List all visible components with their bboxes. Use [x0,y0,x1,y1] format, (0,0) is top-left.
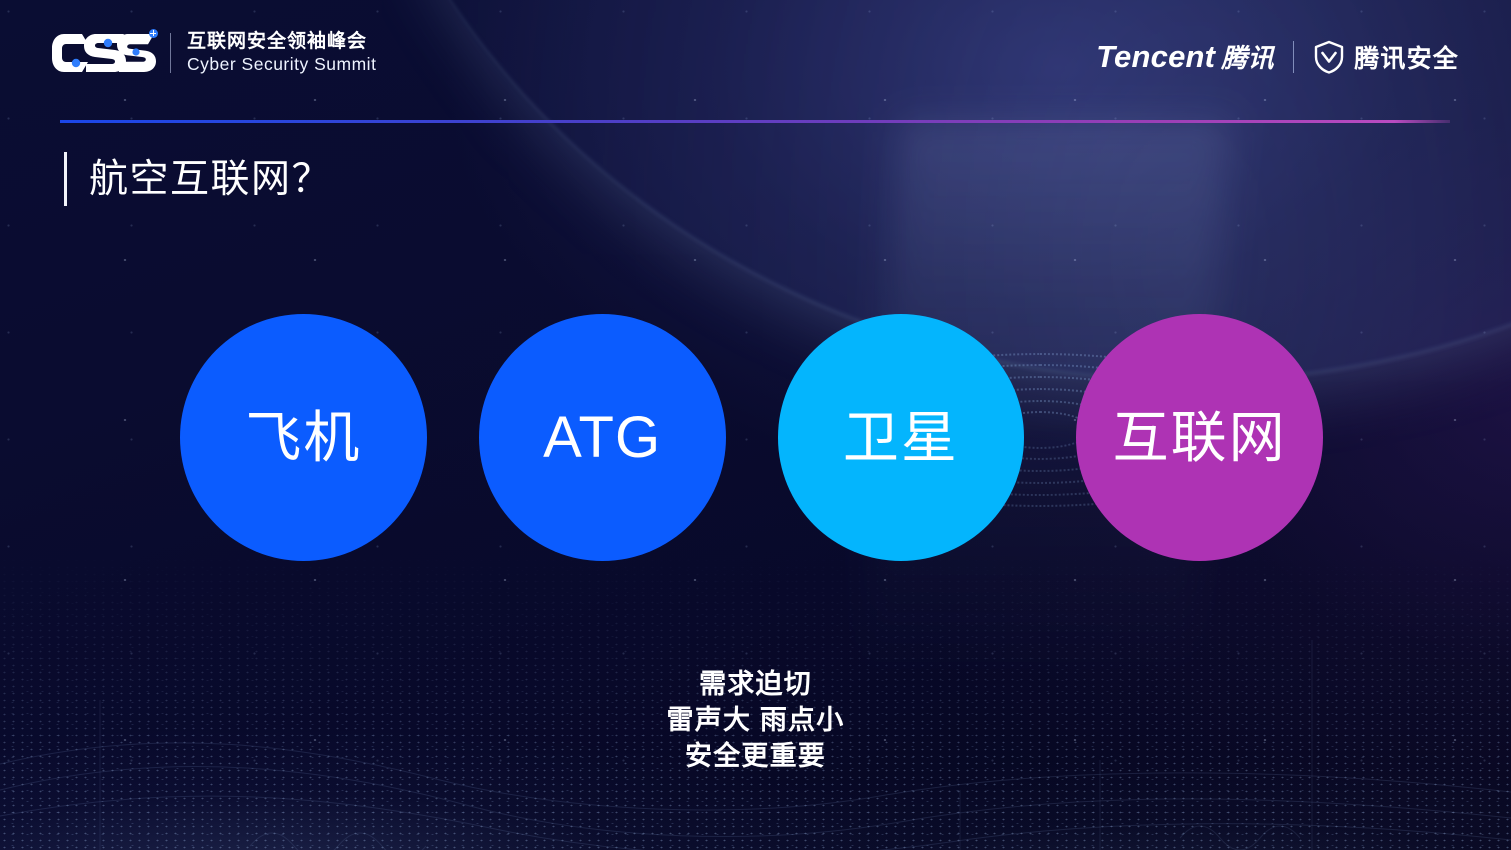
presentation-slide: 互联网安全领袖峰会 Cyber Security Summit Tencent … [0,0,1511,850]
brand-divider [170,33,171,73]
concept-circle-satellite[interactable]: 卫星 [778,314,1025,561]
caption-line-3: 安全更重要 [0,738,1511,774]
concept-circle-label: 卫星 [843,410,959,466]
tencent-security-lockup: 腾讯安全 [1313,39,1459,75]
page-title: 航空互联网？ [89,160,332,199]
title-accent-bar [64,152,67,206]
tencent-brand-lockup: Tencent 腾讯 腾讯安全 [1096,38,1459,75]
css-logo-icon [52,30,156,76]
css-brand-name-en: Cyber Security Summit [187,54,376,75]
concept-circle-aircraft[interactable]: 飞机 [180,314,427,561]
concept-circle-label: 飞机 [245,410,361,466]
caption-line-1: 需求迫切 [0,666,1511,702]
concept-circle-label: ATG [543,409,661,467]
concept-circle-internet[interactable]: 互联网 [1076,314,1323,561]
concept-circle-label: 互联网 [1113,410,1287,466]
caption-line-2: 雷声大 雨点小 [0,702,1511,738]
tencent-security-label: 腾讯安全 [1354,39,1459,75]
plus-badge-icon [149,29,158,38]
tencent-wordmark: Tencent 腾讯 [1096,38,1274,75]
slide-title-row: 航空互联网？ [64,152,332,206]
css-brand-names: 互联网安全领袖峰会 Cyber Security Summit [187,31,376,75]
tencent-wordmark-cn: 腾讯 [1221,38,1274,75]
slide-header: 互联网安全领袖峰会 Cyber Security Summit Tencent … [0,0,1511,122]
concept-circle-atg[interactable]: ATG [479,314,726,561]
css-brand-lockup: 互联网安全领袖峰会 Cyber Security Summit [52,30,376,76]
brand-separator [1293,41,1294,73]
concept-circle-row: 飞机 ATG 卫星 互联网 [180,314,1323,562]
header-divider-rule [60,120,1450,123]
css-brand-name-cn: 互联网安全领袖峰会 [187,31,376,53]
shield-icon [1313,40,1345,74]
tencent-wordmark-en: Tencent [1096,39,1215,75]
slide-caption: 需求迫切 雷声大 雨点小 安全更重要 [0,666,1511,774]
